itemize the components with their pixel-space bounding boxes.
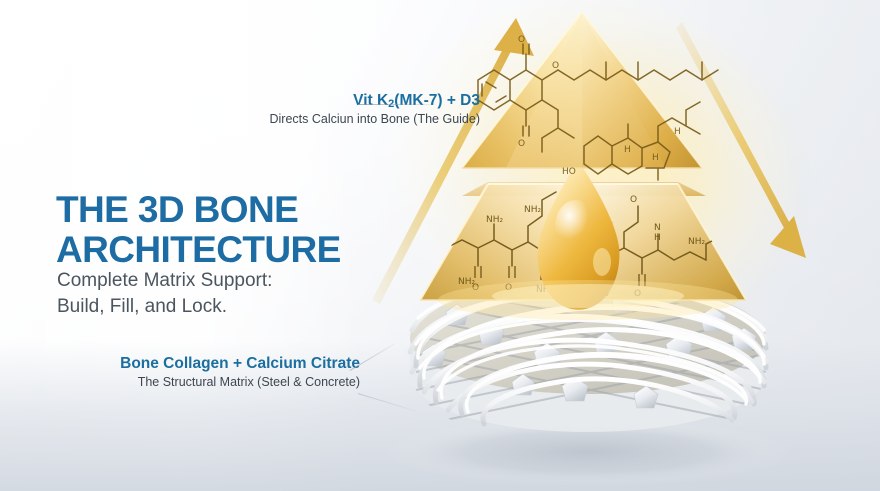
svg-text:NH₂: NH₂ (524, 205, 542, 215)
callout-vitamin-k2-d3: Vit K2(MK-7) + D3 Directs Calciun into B… (120, 92, 480, 126)
callout-collagen-subtitle: The Structural Matrix (Steel & Concrete) (20, 375, 360, 389)
svg-text:H: H (654, 233, 661, 243)
callout-k2-title: Vit K2(MK-7) + D3 (120, 92, 480, 110)
callout-k2-title-post: (MK-7) + D3 (394, 92, 480, 109)
headline-line-1: THE 3D BONE (56, 189, 298, 230)
subhead-line-2: Build, Fill, and Lock. (57, 294, 272, 320)
svg-text:H: H (674, 127, 681, 137)
callout-k2-subtitle: Directs Calciun into Bone (The Guide) (120, 112, 480, 126)
svg-text:HO: HO (562, 167, 576, 177)
svg-text:H: H (652, 153, 659, 163)
headline-line-2: ARCHITECTURE (56, 230, 341, 270)
callout-k2-title-pre: Vit K (353, 92, 388, 109)
svg-text:H: H (624, 145, 631, 155)
svg-text:O: O (518, 139, 525, 149)
page-title: THE 3D BONE ARCHITECTURE (56, 190, 341, 269)
svg-text:NH₂: NH₂ (486, 215, 504, 225)
callout-k2-leader-line (358, 104, 434, 105)
bone-architecture-illustration: H₂N NH₂ NH₂ O O NH₂ NH O O O NH₂ O N H (366, 0, 880, 491)
svg-text:NH₂: NH₂ (688, 237, 706, 247)
subhead-line-1: Complete Matrix Support: (57, 270, 272, 291)
svg-text:O: O (552, 61, 559, 71)
poster-canvas: H₂N NH₂ NH₂ O O NH₂ NH O O O NH₂ O N H (0, 0, 880, 491)
page-subtitle: Complete Matrix Support: Build, Fill, an… (57, 268, 272, 320)
svg-text:O: O (630, 195, 637, 205)
svg-text:O: O (518, 35, 525, 45)
callout-bone-collagen: Bone Collagen + Calcium Citrate The Stru… (20, 355, 360, 389)
callout-collagen-title: Bone Collagen + Calcium Citrate (20, 355, 360, 373)
svg-text:N: N (654, 223, 661, 233)
